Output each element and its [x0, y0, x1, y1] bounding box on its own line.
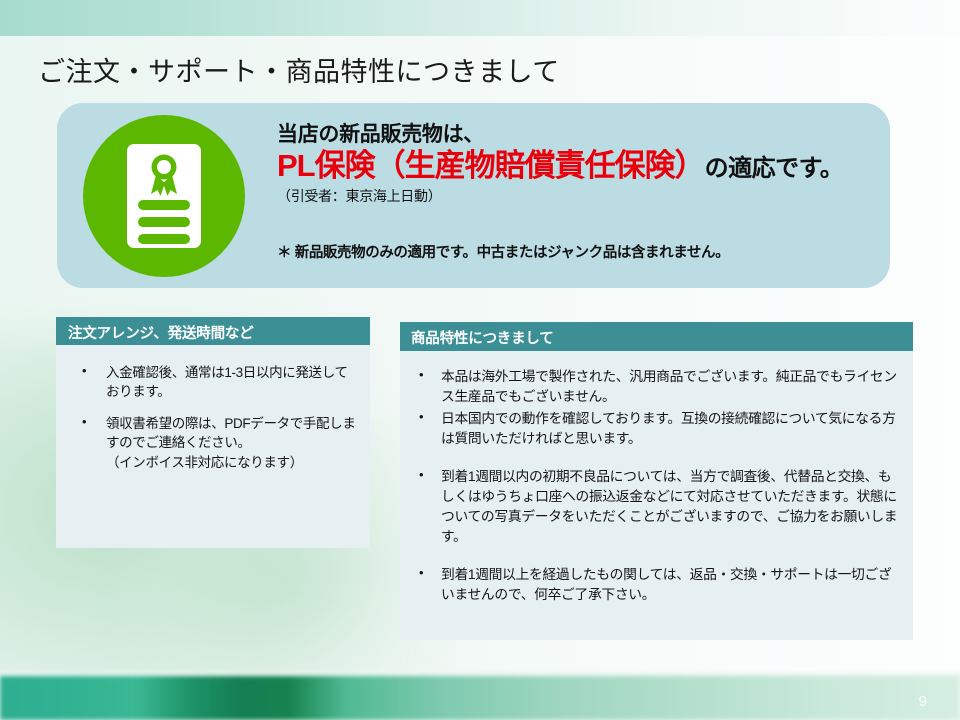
banner-underwriter: （引受者：東京海上日動）: [277, 186, 877, 206]
page-number: 9: [919, 693, 927, 710]
list-item: 日本国内での動作を確認しております。互換の接続確認について気になる方は質問いただ…: [400, 409, 901, 449]
background-top-gradient: [0, 0, 960, 36]
certificate-award-icon: [127, 144, 201, 248]
order-arrangement-panel-body: 入金確認後、通常は1-3日以内に発送しております。 領収書希望の際は、PDFデー…: [56, 345, 370, 548]
list-item: 到着1週間以上を経過したもの関しては、返品・交換・サポートは一切ございませんので…: [400, 565, 901, 605]
list-item: 入金確認後、通常は1-3日以内に発送しております。: [56, 363, 360, 401]
pl-insurance-suffix: の適応です。: [705, 155, 844, 182]
banner-line-1: 当店の新品販売物は、: [277, 123, 877, 147]
award-ribbon-icon: [147, 153, 181, 197]
banner-disclaimer-note: ＊ 新品販売物のみの適用です。中古またはジャンク品は含まれません。: [277, 241, 729, 262]
certificate-text-line: [138, 200, 190, 210]
list-item: 到着1週間以内の初期不良品については、当方で調査後、代替品と交換、もしくはゆうち…: [400, 467, 901, 547]
product-characteristics-panel-body: 本品は海外工場で製作された、汎用商品でございます。純正品でもライセンス生産品でも…: [400, 351, 913, 640]
product-characteristics-bullet-list: 本品は海外工場で製作された、汎用商品でございます。純正品でもライセンス生産品でも…: [400, 367, 901, 605]
pl-insurance-banner: 当店の新品販売物は、 PL保険（生産物賠償責任保険）の適応です。 （引受者：東京…: [57, 103, 890, 288]
slide-canvas: ご注文・サポート・商品特性につきまして 当店の新品販売物は、 PL保険（生産物賠…: [0, 0, 960, 720]
order-arrangement-bullet-list: 入金確認後、通常は1-3日以内に発送しております。 領収書希望の際は、PDFデー…: [56, 363, 360, 472]
page-title: ご注文・サポート・商品特性につきまして: [38, 50, 560, 89]
product-characteristics-panel-header: 商品特性につきまして: [400, 322, 913, 351]
list-item: 領収書希望の際は、PDFデータで手配しますのでご連絡ください。（インボイス非対応…: [56, 414, 360, 471]
background-bottom-photo-band: [0, 676, 960, 720]
order-arrangement-panel-header: 注文アレンジ、発送時間など: [56, 317, 370, 345]
certificate-text-line: [138, 234, 190, 244]
product-characteristics-panel: 商品特性につきまして 本品は海外工場で製作された、汎用商品でございます。純正品で…: [400, 322, 913, 640]
order-arrangement-panel: 注文アレンジ、発送時間など 入金確認後、通常は1-3日以内に発送しております。 …: [56, 317, 370, 548]
list-item: 本品は海外工場で製作された、汎用商品でございます。純正品でもライセンス生産品でも…: [400, 367, 901, 407]
pl-insurance-highlight: PL保険（生産物賠償責任保険）: [277, 148, 705, 183]
certificate-text-line: [138, 217, 190, 227]
certificate-badge-circle: [83, 115, 245, 277]
banner-line-2: PL保険（生産物賠償責任保険）の適応です。: [277, 149, 877, 183]
banner-text-block: 当店の新品販売物は、 PL保険（生産物賠償責任保険）の適応です。 （引受者：東京…: [277, 123, 877, 206]
